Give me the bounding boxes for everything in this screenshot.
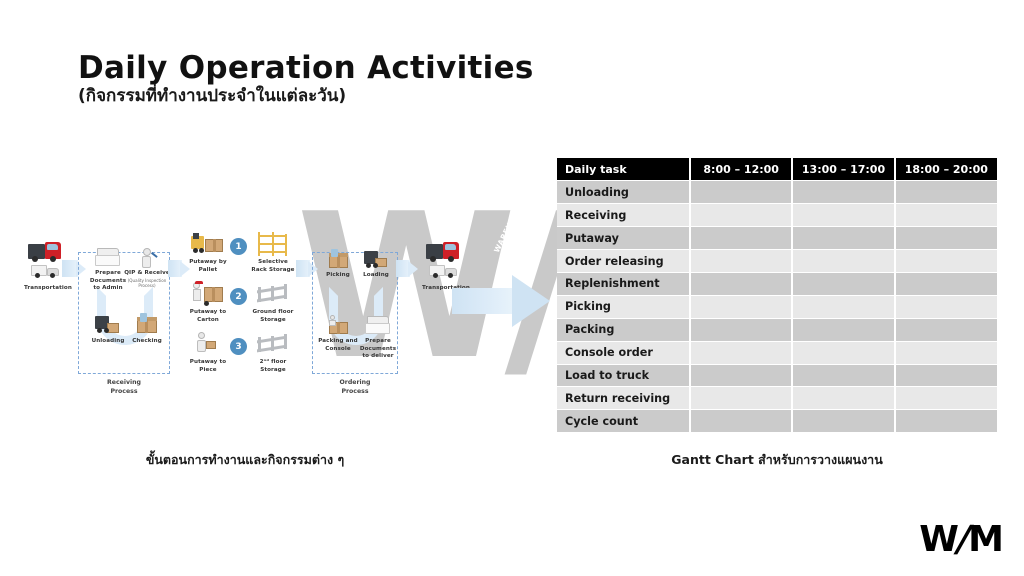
gantt-cell-slot-1[interactable] xyxy=(690,250,792,273)
ordering-node-label: Loading xyxy=(355,272,397,280)
putaway-activity-2: Putaway to Carton xyxy=(186,282,230,324)
ordering-node-loading: Loading xyxy=(355,249,397,280)
gantt-task-label: Order releasing xyxy=(557,250,690,273)
gantt-cell-slot-2[interactable] xyxy=(792,204,894,227)
receiving-process-box: Prepare Documents to Admin QIP & Receive… xyxy=(78,252,170,374)
right-panel-caption: Gantt Chart สำหรับการวางแผนงาน xyxy=(557,450,997,470)
gantt-cell-slot-2[interactable] xyxy=(792,318,894,341)
gantt-col-header-slot-2: 13:00 – 17:00 xyxy=(792,158,894,181)
gantt-cell-slot-3[interactable] xyxy=(895,387,997,410)
gantt-task-label: Packing xyxy=(557,318,690,341)
putaway-activity-label: Putaway by Pallet xyxy=(186,259,230,274)
gantt-cell-slot-2[interactable] xyxy=(792,181,894,204)
putaway-activity-label: Putaway to Piece xyxy=(186,359,230,374)
forklift-load-icon xyxy=(361,249,391,271)
ordering-caption-line1: Ordering xyxy=(340,379,371,386)
gantt-cell-slot-1[interactable] xyxy=(690,295,792,318)
ordering-process-box: Picking Loading Packing and Co xyxy=(312,252,398,374)
gantt-task-label: Picking xyxy=(557,295,690,318)
gantt-cell-slot-3[interactable] xyxy=(895,341,997,364)
storage-type-3: 2ⁿᵈ floor Storage xyxy=(250,332,296,374)
receiving-node-sublabel: (Quality Inspection Process) xyxy=(124,278,170,289)
inspection-icon xyxy=(134,247,160,269)
ordering-process-caption: Ordering Process xyxy=(313,379,397,397)
putaway-activity-3: Putaway to Piece xyxy=(186,332,230,374)
floor-storage-icon xyxy=(256,332,290,358)
table-row[interactable]: Load to truck xyxy=(557,364,997,387)
forklift-pallet-icon xyxy=(190,232,226,258)
logo-letter-m: M xyxy=(968,519,1002,560)
handtruck-carton-icon xyxy=(190,282,226,308)
gantt-cell-slot-1[interactable] xyxy=(690,410,792,433)
gantt-cell-slot-1[interactable] xyxy=(690,181,792,204)
gantt-cell-slot-2[interactable] xyxy=(792,227,894,250)
left-panel-caption: ขั้นตอนการทำงานและกิจกรรมต่าง ๆ xyxy=(55,450,435,470)
putaway-activity-label: Putaway to Carton xyxy=(186,309,230,324)
table-row[interactable]: Order releasing xyxy=(557,250,997,273)
gantt-cell-slot-2[interactable] xyxy=(792,410,894,433)
gantt-task-label: Unloading xyxy=(557,181,690,204)
wm-logo: W/M xyxy=(919,522,1002,558)
gantt-col-header-slot-1: 8:00 – 12:00 xyxy=(690,158,792,181)
worker-piece-icon xyxy=(190,332,226,358)
gantt-cell-slot-2[interactable] xyxy=(792,387,894,410)
table-row[interactable]: Packing xyxy=(557,318,997,341)
gantt-cell-slot-3[interactable] xyxy=(895,295,997,318)
putaway-activity-1: Putaway by Pallet xyxy=(186,232,230,274)
gantt-col-header-task: Daily task xyxy=(557,158,690,181)
gantt-cell-slot-1[interactable] xyxy=(690,272,792,295)
receiving-node-prepare-documents: Prepare Documents to Admin xyxy=(87,247,129,293)
gantt-task-label: Console order xyxy=(557,341,690,364)
storage-type-1: Selective Rack Storage xyxy=(250,232,296,274)
ordering-caption-line2: Process xyxy=(341,388,368,395)
ordering-node-picking: Picking xyxy=(317,249,359,280)
logo-letter-w: W xyxy=(919,519,957,560)
table-row[interactable]: Putaway xyxy=(557,227,997,250)
receiving-process-caption: Receiving Process xyxy=(79,379,169,397)
gantt-cell-slot-2[interactable] xyxy=(792,364,894,387)
receiving-node-label: QIP & Receive xyxy=(124,270,170,278)
gantt-task-label: Receiving xyxy=(557,204,690,227)
table-row[interactable]: Unloading xyxy=(557,181,997,204)
storage-type-label: Ground floor Storage xyxy=(250,309,296,324)
ordering-node-label: Prepare Documents to deliver xyxy=(356,338,400,361)
documents-icon xyxy=(364,315,392,337)
forklift-unload-icon xyxy=(93,313,123,337)
ordering-node-label: Picking xyxy=(317,272,359,280)
gantt-cell-slot-3[interactable] xyxy=(895,204,997,227)
table-row[interactable]: Console order xyxy=(557,341,997,364)
gantt-task-label: Replenishment xyxy=(557,272,690,295)
step-number-3: 3 xyxy=(230,338,247,355)
inbound-transportation-label: Transportation xyxy=(18,285,78,293)
gantt-cell-slot-1[interactable] xyxy=(690,227,792,250)
receiving-caption-line2: Process xyxy=(110,388,137,395)
gantt-cell-slot-3[interactable] xyxy=(895,318,997,341)
outbound-big-arrow-icon xyxy=(452,275,552,327)
receiving-node-label: Checking xyxy=(125,338,169,346)
gantt-cell-slot-2[interactable] xyxy=(792,250,894,273)
gantt-chart: Daily task 8:00 – 12:00 13:00 – 17:00 18… xyxy=(557,158,997,433)
storage-type-label: 2ⁿᵈ floor Storage xyxy=(250,359,296,374)
table-row[interactable]: Return receiving xyxy=(557,387,997,410)
gantt-cell-slot-1[interactable] xyxy=(690,341,792,364)
table-row[interactable]: Cycle count xyxy=(557,410,997,433)
gantt-cell-slot-3[interactable] xyxy=(895,272,997,295)
gantt-cell-slot-2[interactable] xyxy=(792,295,894,318)
gantt-cell-slot-3[interactable] xyxy=(895,250,997,273)
gantt-table: Daily task 8:00 – 12:00 13:00 – 17:00 18… xyxy=(557,158,997,433)
putaway-storage-matrix: Putaway by Pallet 1 Selective Rack Stora… xyxy=(186,232,296,382)
table-row[interactable]: Receiving xyxy=(557,204,997,227)
gantt-cell-slot-3[interactable] xyxy=(895,364,997,387)
storage-type-label: Selective Rack Storage xyxy=(250,259,296,274)
gantt-cell-slot-2[interactable] xyxy=(792,341,894,364)
watermark-diagonal-text: WAREHOUSE MANAGEMENT xyxy=(492,138,555,254)
arrow-to-outbound-icon xyxy=(396,260,418,277)
page-subtitle: (กิจกรรมที่ทำงานประจำในแต่ละวัน) xyxy=(78,87,534,106)
title-block: Daily Operation Activities (กิจกรรมที่ทำ… xyxy=(78,52,534,106)
ordering-node-prepare-documents: Prepare Documents to deliver xyxy=(356,315,400,361)
step-number-1: 1 xyxy=(230,238,247,255)
gantt-col-header-slot-3: 18:00 – 20:00 xyxy=(895,158,997,181)
gantt-header-row: Daily task 8:00 – 12:00 13:00 – 17:00 18… xyxy=(557,158,997,181)
ordering-node-packing: Packing and Console xyxy=(315,315,361,353)
storage-type-2: Ground floor Storage xyxy=(250,282,296,324)
receiving-caption-line1: Receiving xyxy=(107,379,141,386)
table-row[interactable]: Replenishment xyxy=(557,272,997,295)
gantt-task-label: Return receiving xyxy=(557,387,690,410)
process-flow-diagram: W/M WAREHOUSE MANAGEMENT Transportation xyxy=(0,150,560,450)
step-number-2: 2 xyxy=(230,288,247,305)
gantt-task-label: Load to truck xyxy=(557,364,690,387)
carton-check-icon xyxy=(133,313,161,337)
carton-pick-icon xyxy=(324,249,352,271)
gantt-cell-slot-1[interactable] xyxy=(690,387,792,410)
gantt-cell-slot-3[interactable] xyxy=(895,227,997,250)
gantt-cell-slot-3[interactable] xyxy=(895,181,997,204)
gantt-cell-slot-1[interactable] xyxy=(690,204,792,227)
gantt-task-label: Putaway xyxy=(557,227,690,250)
gantt-task-label: Cycle count xyxy=(557,410,690,433)
page-title: Daily Operation Activities xyxy=(78,52,534,85)
table-row[interactable]: Picking xyxy=(557,295,997,318)
gantt-cell-slot-1[interactable] xyxy=(690,318,792,341)
receiving-node-checking: Checking xyxy=(125,313,169,346)
receiving-node-label: Prepare Documents to Admin xyxy=(87,270,129,293)
gantt-cell-slot-1[interactable] xyxy=(690,364,792,387)
slide-canvas: Daily Operation Activities (กิจกรรมที่ทำ… xyxy=(0,0,1024,576)
receiving-node-qip: QIP & Receive (Quality Inspection Proces… xyxy=(124,247,170,288)
gantt-cell-slot-3[interactable] xyxy=(895,410,997,433)
floor-storage-icon xyxy=(256,282,290,308)
documents-icon xyxy=(94,247,122,269)
gantt-cell-slot-2[interactable] xyxy=(792,272,894,295)
rack-icon xyxy=(256,232,290,258)
packing-icon xyxy=(324,315,352,337)
ordering-node-label: Packing and Console xyxy=(315,338,361,353)
